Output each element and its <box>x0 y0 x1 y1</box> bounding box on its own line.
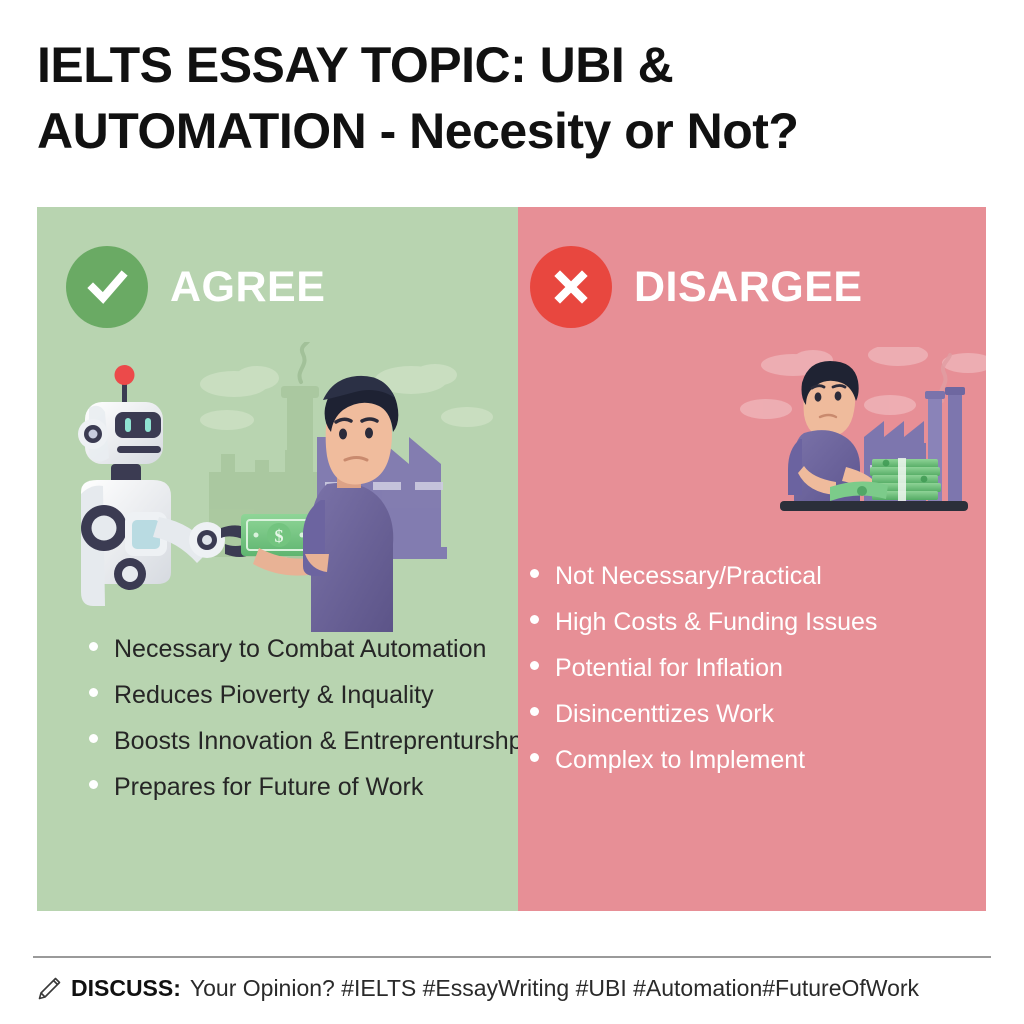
panel-disagree-header: DISARGEE <box>530 246 863 328</box>
panel-disagree-label: DISARGEE <box>634 263 863 312</box>
bullet-dot-icon <box>530 615 539 624</box>
agree-bullet-list: Necessary to Combat Automation Reduces P… <box>89 635 509 819</box>
bullet-dot-icon <box>89 780 98 789</box>
list-item-label: Reduces Pioverty & Inquality <box>114 681 434 709</box>
list-item: Reduces Pioverty & Inquality <box>89 681 509 709</box>
bullet-dot-icon <box>530 661 539 670</box>
illustration-robot-paying-worker: $ <box>59 342 509 632</box>
list-item-label: Necessary to Combat Automation <box>114 635 486 663</box>
bullet-dot-icon <box>530 707 539 716</box>
footer-discuss-label: DISCUSS: <box>71 975 181 1002</box>
pencil-icon <box>36 976 62 1002</box>
list-item-label: Potential for Inflation <box>555 654 783 682</box>
bullet-dot-icon <box>89 642 98 651</box>
list-item: Necessary to Combat Automation <box>89 635 509 663</box>
list-item: Not Necessary/Practical <box>530 562 970 590</box>
panel-agree: $ <box>37 207 518 911</box>
bullet-dot-icon <box>89 688 98 697</box>
panel-agree-header: AGREE <box>66 246 325 328</box>
check-circle-icon <box>66 246 148 328</box>
footer-divider <box>33 956 991 958</box>
illustration-worker-with-money-stacks <box>738 347 986 527</box>
list-item-label: Not Necessary/Practical <box>555 562 822 590</box>
list-item: Prepares for Future of Work <box>89 773 509 801</box>
comparison-panels: $ <box>37 207 986 911</box>
x-circle-icon <box>530 246 612 328</box>
list-item-label: Disincenttizes Work <box>555 700 774 728</box>
bullet-dot-icon <box>530 753 539 762</box>
list-item-label: High Costs & Funding Issues <box>555 608 877 636</box>
svg-text:$: $ <box>275 526 284 546</box>
footer-hashtags: Your Opinion? #IELTS #EssayWriting #UBI … <box>190 975 919 1002</box>
bullet-dot-icon <box>89 734 98 743</box>
list-item-label: Prepares for Future of Work <box>114 773 423 801</box>
footer-cta: DISCUSS: Your Opinion? #IELTS #EssayWrit… <box>36 975 996 1002</box>
list-item: Potential for Inflation <box>530 654 970 682</box>
bullet-dot-icon <box>530 569 539 578</box>
page-title: IELTS ESSAY TOPIC: UBI & AUTOMATION - Ne… <box>37 32 993 164</box>
list-item: High Costs & Funding Issues <box>530 608 970 636</box>
list-item-label: Complex to Implement <box>555 746 805 774</box>
disagree-bullet-list: Not Necessary/Practical High Costs & Fun… <box>530 562 970 792</box>
list-item: Disincenttizes Work <box>530 700 970 728</box>
panel-agree-label: AGREE <box>170 263 325 312</box>
list-item: Complex to Implement <box>530 746 970 774</box>
panel-disagree: DISARGEE Not Necessary/Practical High Co… <box>518 207 986 911</box>
list-item: Boosts Innovation & Entreprenturshp <box>89 727 509 755</box>
infographic-page: IELTS ESSAY TOPIC: UBI & AUTOMATION - Ne… <box>0 0 1024 1024</box>
list-item-label: Boosts Innovation & Entreprenturshp <box>114 727 518 755</box>
